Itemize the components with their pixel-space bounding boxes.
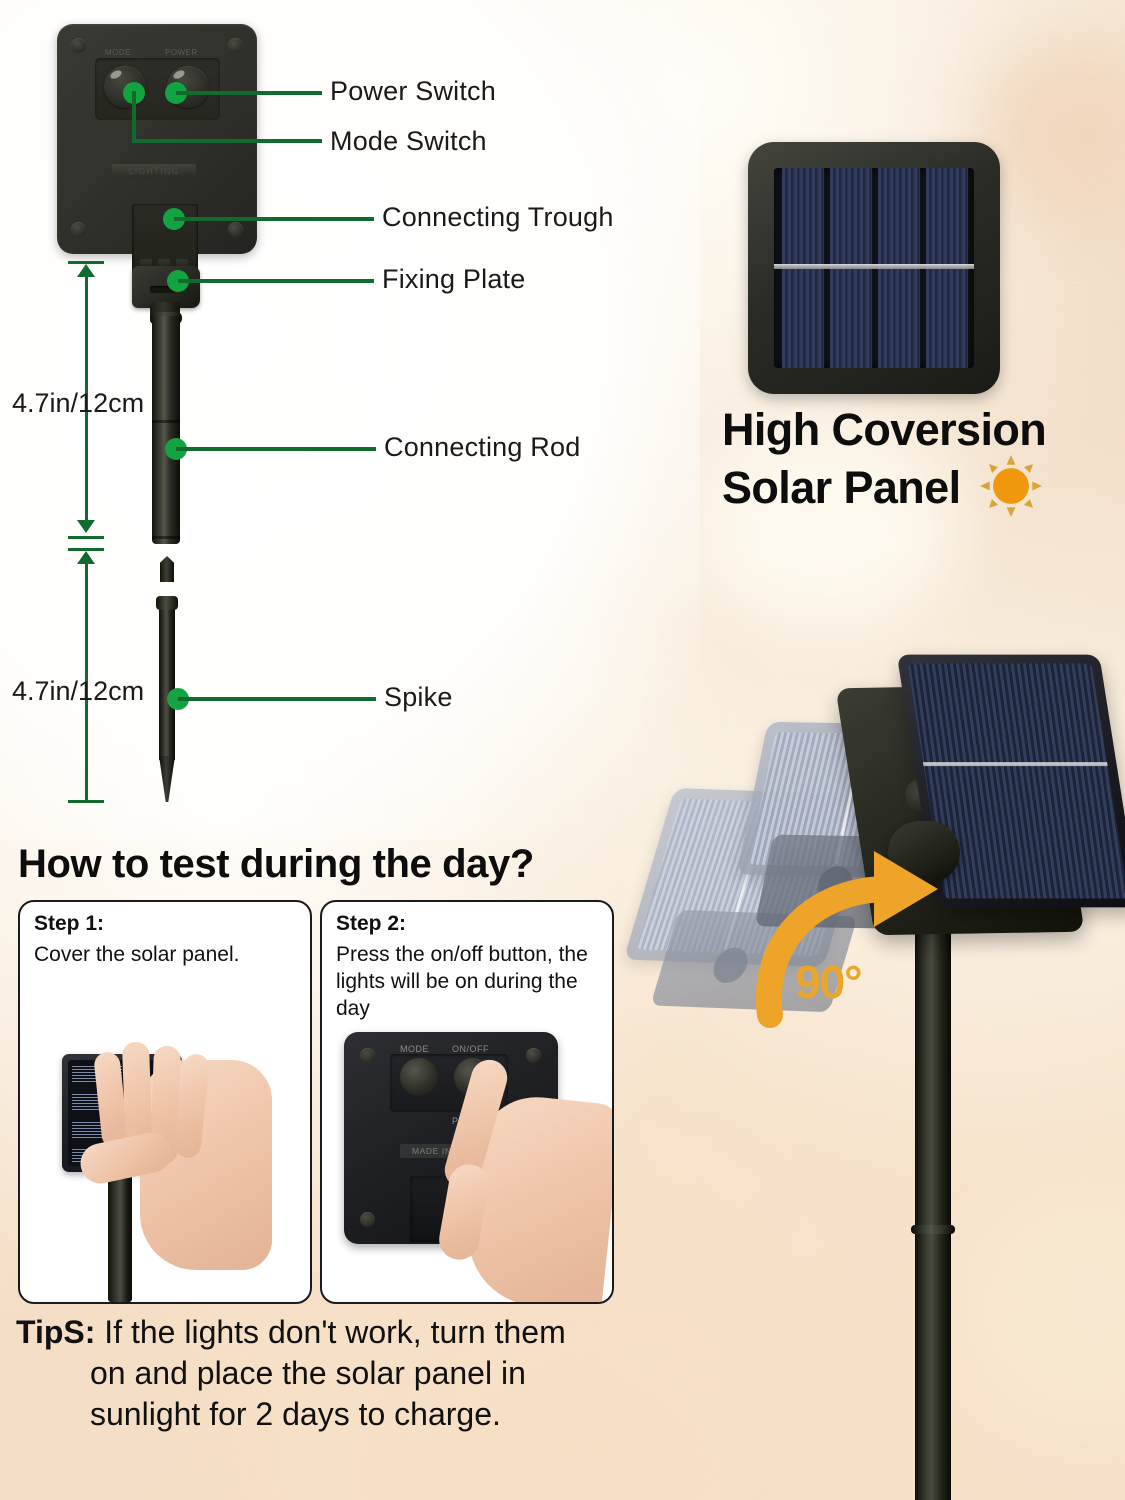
solar-cell-array — [774, 168, 974, 368]
infographic-page: MODE POWER LIGHTING — [0, 0, 1125, 1500]
step-card-2: Step 2: Press the on/off button, the lig… — [320, 900, 614, 1304]
rotation-demo-scene: 90° — [630, 625, 1125, 1500]
sun-icon — [980, 455, 1042, 517]
step1-pole — [108, 1170, 132, 1302]
callout-label-mode-switch: Mode Switch — [330, 126, 487, 157]
hero-title-line-1: High Coversion — [722, 404, 1046, 455]
screw-icon — [71, 222, 86, 237]
pole-ring — [911, 1225, 955, 1234]
rod-seam — [152, 536, 180, 539]
step-2-text: Press the on/off button, the lights will… — [336, 942, 602, 1023]
screw-icon — [228, 222, 243, 237]
rod-seam — [152, 420, 180, 423]
screw-icon — [526, 1048, 541, 1063]
callout-label-connecting-rod: Connecting Rod — [384, 432, 580, 463]
screw-icon — [360, 1048, 375, 1063]
callout-leader-connecting-rod — [176, 447, 376, 451]
callout-leader-mode-switch-h — [132, 139, 322, 143]
callout-label-spike: Spike — [384, 682, 453, 713]
hero-title: High Coversion Solar Panel — [722, 405, 1122, 517]
step-card-1: Step 1: Cover the solar panel. — [18, 900, 312, 1304]
spike-point — [159, 756, 175, 802]
callout-label-connecting-trough: Connecting Trough — [382, 202, 614, 233]
tips-block: TipS: If the lights don't work, turn the… — [16, 1312, 656, 1435]
connecting-rod-part — [152, 316, 180, 544]
howto-title: How to test during the day? — [18, 842, 658, 887]
callout-leader-connecting-trough — [174, 217, 374, 221]
step2-mode-label: MODE — [400, 1044, 429, 1054]
fixing-plate-part — [128, 256, 204, 318]
dim-label-rod: 4.7in/12cm — [12, 388, 144, 419]
callout-leader-spike — [178, 697, 376, 701]
solar-busbar — [774, 264, 974, 269]
step-1-heading: Step 1: — [34, 912, 104, 936]
dim-arrow-rod-bottom — [77, 520, 95, 533]
dim-tick-rod-bottom — [68, 536, 104, 539]
screw-icon — [228, 38, 243, 53]
knob-highlight — [109, 69, 123, 81]
screw-icon — [71, 38, 86, 53]
knob-highlight — [172, 69, 186, 81]
callout-label-power-switch: Power Switch — [330, 76, 496, 107]
callout-leader-mode-switch-v — [132, 91, 136, 143]
spike-part — [156, 556, 178, 802]
rotation-angle-label: 90° — [795, 955, 862, 1009]
mode-marking-label: MODE — [105, 48, 131, 57]
hero-title-line-2: Solar Panel — [722, 462, 961, 513]
tips-prefix: TipS: — [16, 1314, 95, 1350]
step-1-text: Cover the solar panel. — [34, 942, 300, 969]
spike-top-tip — [160, 556, 174, 582]
step2-mode-button[interactable] — [400, 1058, 438, 1096]
callout-leader-power-switch — [176, 91, 322, 95]
tips-line-2: on and place the solar panel in — [16, 1353, 656, 1394]
screw-icon — [360, 1212, 375, 1227]
callout-leader-fixing-plate — [178, 279, 374, 283]
spike-collar — [156, 596, 178, 610]
solar-panel-hero-image — [748, 142, 1000, 394]
tips-line-1: If the lights don't work, turn them — [104, 1314, 565, 1350]
tips-line-3: sunlight for 2 days to charge. — [16, 1394, 656, 1435]
power-marking-label: POWER — [165, 48, 198, 57]
spike-shaft — [159, 610, 175, 760]
dim-label-spike: 4.7in/12cm — [12, 676, 144, 707]
dim-tick-spike-bottom — [68, 800, 104, 803]
callout-label-fixing-plate: Fixing Plate — [382, 264, 525, 295]
step2-onoff-label: ON/OFF — [452, 1044, 489, 1054]
step-2-heading: Step 2: — [336, 912, 406, 936]
product-exploded-diagram: MODE POWER LIGHTING — [0, 0, 700, 845]
housing-emboss: LIGHTING — [112, 164, 196, 178]
